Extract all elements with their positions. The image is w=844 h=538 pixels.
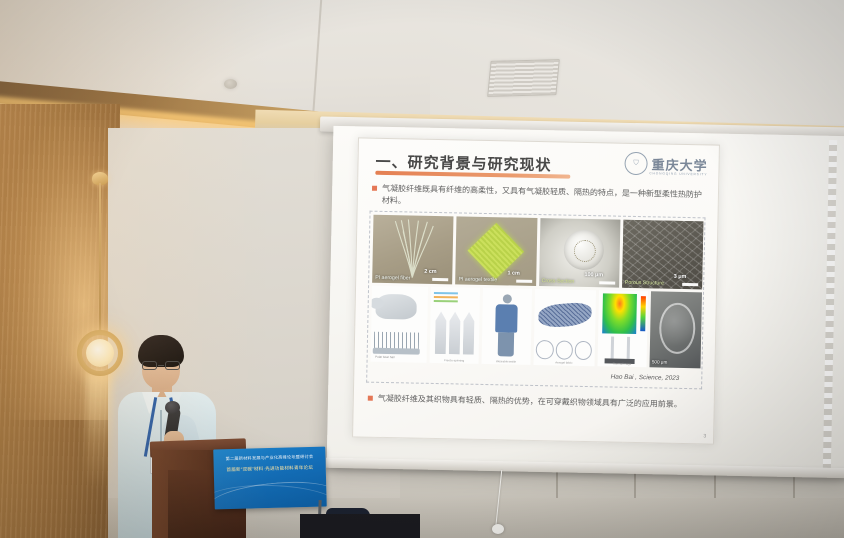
conference-sign-line2: 首届新“双碳”材料·先进功能材料青年论坛 (220, 465, 320, 474)
figure-panel-thermal: Thermal image (597, 290, 647, 367)
scale-bar (599, 281, 615, 284)
figure-cell-cross-section: Cross-Section 100 μm (539, 218, 621, 288)
university-name-en: CHONGQING UNIVERSITY (649, 171, 707, 176)
pendant-lamp-globe-icon (86, 339, 114, 367)
figure-container: PI aerogel fiber 2 cm PI aerogel textile… (366, 211, 705, 390)
person-icon (495, 294, 518, 354)
figure-scale-text: 2 cm (424, 269, 436, 275)
legend-swatch (434, 292, 457, 294)
cable-knot (492, 524, 504, 534)
scale-bar (682, 283, 698, 286)
figure-cell-pi-aerogel-textile: PI aerogel textile 1 cm (455, 216, 537, 286)
slide-bullet-2-text: 气凝胶纤维及其织物具有轻质、隔热的优势，在可穿戴织物领域具有广泛的应用前景。 (378, 393, 682, 411)
figure-panel-fabric-weave: Aerogel fabric (533, 289, 596, 366)
figure-scale-text: 100 μm (584, 272, 603, 278)
slide-bullet-2: 气凝胶纤维及其织物具有轻质、隔热的优势，在可穿戴织物领域具有广泛的应用前景。 (368, 393, 700, 412)
bullet-marker-icon (372, 186, 377, 191)
figure-panel-wearable-person: Wearable textile (482, 288, 532, 365)
stand-leg (610, 336, 613, 359)
figure-row-bottom: Polar bear hair Freeze- (371, 286, 702, 369)
figure-panel-sem-bubble: 500 μm (649, 291, 702, 368)
recessed-ceiling-light (224, 79, 237, 89)
conference-sign: 第二届新材料发展与产业化高峰论坛暨研讨会 首届新“双碳”材料·先进功能材料青年论… (213, 447, 327, 510)
floor-shadow (300, 514, 420, 538)
polar-bear-icon (376, 293, 417, 320)
university-seal-icon: ⛉ (624, 152, 647, 175)
figure-panel-freeze-spinning: Freeze-spinning (430, 287, 480, 364)
figure-label: PI aerogel textile (458, 276, 497, 283)
fabric-weave-icon (538, 301, 591, 328)
figure-scale-text: 500 μm (652, 359, 668, 364)
legend-swatch (434, 296, 457, 298)
figure-scale-text: 3 μm (674, 274, 687, 280)
microphone-head-icon (165, 401, 180, 414)
conference-sign-line1: 第二届新材料发展与产业化高峰论坛暨研讨会 (219, 454, 319, 463)
scale-bar (516, 280, 532, 283)
figure-panel-polar-bear: Polar bear hair (371, 286, 429, 363)
slide-citation: Hao Bai , Science, 2023 (611, 374, 680, 382)
panel-caption: Polar bear hair (375, 355, 395, 359)
slide-bullet-1: 气凝胶纤维既具有纤维的高柔性，又具有气凝胶轻质、隔热的特点，是一种新型柔性热防护… (372, 183, 704, 214)
porous-structure-texture (622, 220, 704, 290)
figure-row-top: PI aerogel fiber 2 cm PI aerogel textile… (372, 215, 703, 290)
figure-cell-pi-aerogel-fiber: PI aerogel fiber 2 cm (372, 215, 454, 285)
thermal-colorbar (640, 296, 646, 331)
legend-swatch (434, 300, 457, 302)
scale-bar (432, 278, 448, 281)
panel-caption: Freeze-spinning (430, 358, 479, 363)
figure-scale-text: 1 cm (507, 270, 519, 276)
slide-bullet-1-text: 气凝胶纤维既具有纤维的高柔性，又具有气凝胶轻质、隔热的特点，是一种新型柔性热防护… (382, 183, 704, 214)
figure-label: PI aerogel fiber (375, 275, 410, 282)
slide-page-number: 3 (703, 433, 706, 439)
bullet-marker-icon (368, 396, 373, 401)
panel-caption: Thermal image (597, 361, 646, 366)
fiber-cross-section-icon (563, 229, 604, 270)
figure-label: Porous Structure (625, 280, 664, 287)
pendant-lamp-beam (86, 370, 112, 490)
infrared-thermograph-icon (602, 293, 637, 333)
screenshot-root: 一、研究背景与研究现状 ⛉ 重庆大学 CHONGQING UNIVERSITY … (0, 0, 844, 538)
sem-bubble-icon (659, 302, 696, 354)
stand-leg (627, 336, 630, 359)
panel-caption: Aerogel fabric (533, 360, 594, 365)
cone-array-icon (433, 311, 477, 354)
projected-slide: 一、研究背景与研究现状 ⛉ 重庆大学 CHONGQING UNIVERSITY … (352, 137, 720, 444)
seal-glyph: ⛉ (633, 160, 638, 167)
panel-caption: Wearable textile (482, 359, 531, 364)
mechanism-circles-icon (536, 340, 593, 360)
figure-cell-porous-structure: Porous Structure 3 μm (622, 220, 704, 290)
figure-label: Cross-Section (542, 278, 575, 285)
panel-legend (434, 292, 458, 304)
air-vent-icon (487, 59, 560, 97)
pendant-lamp-cord (99, 183, 101, 333)
glasses-icon (141, 361, 181, 370)
